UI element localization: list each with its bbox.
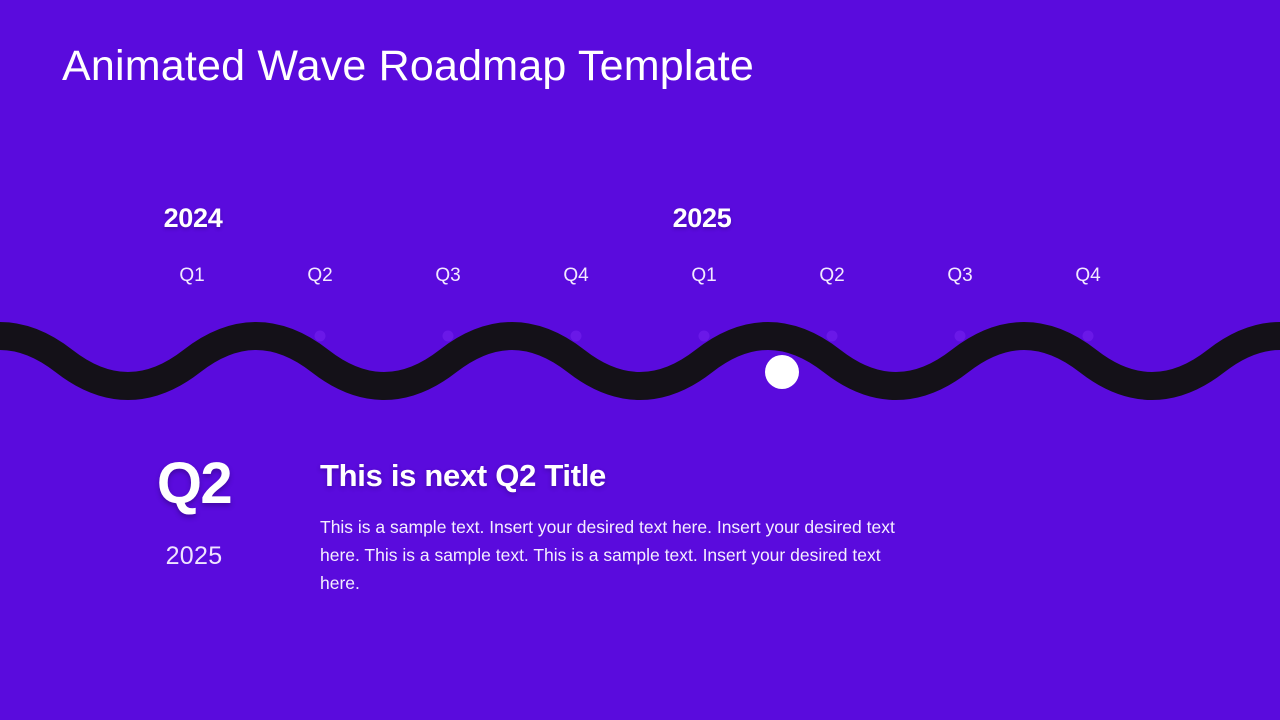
current-position-marker[interactable]: [765, 355, 799, 389]
wave-svg: [0, 296, 1280, 406]
detail-body-text: This is a sample text. Insert your desir…: [320, 513, 906, 597]
detail-year-label: 2025: [118, 542, 270, 571]
year-label-2024[interactable]: 2024: [164, 203, 223, 234]
page-title: Animated Wave Roadmap Template: [62, 42, 754, 91]
quarter-label-q4-2024[interactable]: Q4: [563, 265, 588, 287]
quarter-label-q1-2025[interactable]: Q1: [691, 265, 716, 287]
quarter-label-q1-2024[interactable]: Q1: [179, 265, 204, 287]
quarter-label-q2-2024[interactable]: Q2: [307, 265, 332, 287]
quarter-label-q2-2025[interactable]: Q2: [819, 265, 844, 287]
quarter-label-q3-2025[interactable]: Q3: [947, 265, 972, 287]
milestone-dot-q2-2024[interactable]: [315, 331, 326, 342]
milestone-dot-q4-2025[interactable]: [1083, 331, 1094, 342]
wave-timeline-graphic: [0, 296, 1280, 406]
detail-panel: Q2 2025 This is next Q2 Title This is a …: [0, 440, 1280, 660]
milestone-dot-q3-2024[interactable]: [443, 331, 454, 342]
milestone-dot-q4-2024[interactable]: [571, 331, 582, 342]
milestone-dot-q1-2025[interactable]: [699, 331, 710, 342]
detail-quarter-label: Q2: [118, 455, 270, 513]
wave-path: [0, 336, 1280, 386]
quarter-label-q4-2025[interactable]: Q4: [1075, 265, 1100, 287]
year-label-2025[interactable]: 2025: [673, 203, 732, 234]
detail-text-block: This is next Q2 Title This is a sample t…: [320, 458, 920, 597]
milestone-dot-q3-2025[interactable]: [955, 331, 966, 342]
detail-title: This is next Q2 Title: [320, 458, 920, 494]
roadmap-slide: Animated Wave Roadmap Template 20242025Q…: [0, 0, 1280, 720]
milestone-dot-q2-2025[interactable]: [827, 331, 838, 342]
quarter-label-q3-2024[interactable]: Q3: [435, 265, 460, 287]
detail-quarter-block: Q2 2025: [118, 455, 270, 571]
